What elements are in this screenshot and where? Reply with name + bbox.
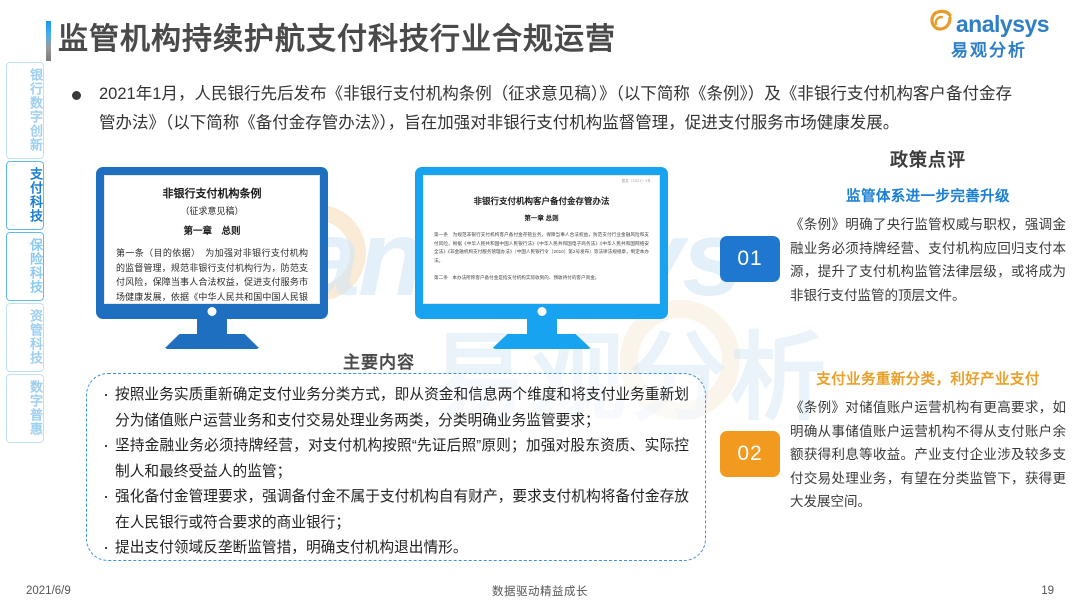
logo-swirl-icon	[929, 9, 955, 39]
doc-left-subtitle: （征求意见稿）	[116, 204, 308, 218]
title-accent-bar	[46, 21, 51, 61]
monitor-left-screen: 非银行支付机构条例 （征求意见稿） 第一章 总则 第一条（目的依据） 为加强对非…	[104, 175, 320, 304]
sidebar-item-asset-tech[interactable]: 资管科技	[6, 303, 44, 372]
monitor-right-screen: 银发〔2021〕1号 非银行支付机构客户备付金存管办法 第一章 总则 第一条 为…	[423, 175, 660, 304]
doc-right-body-2: 第二条 本办法所称客户备付金是指支付机构实际收到的、预收待付的客户资金。	[434, 274, 649, 283]
monitor-left-body: 非银行支付机构条例 （征求意见稿） 第一章 总则 第一条（目的依据） 为加强对非…	[96, 167, 328, 319]
commentary-block-2: 支付业务重新分类，利好产业支付 《条例》对储值账户运营机构有更高要求，如明确从事…	[790, 368, 1066, 514]
badge-02: 02	[720, 431, 780, 477]
monitor-left: 非银行支付机构条例 （征求意见稿） 第一章 总则 第一条（目的依据） 为加强对非…	[96, 167, 328, 349]
monitor-right-neck	[527, 319, 557, 334]
list-item: 按照业务实质重新确定支付业务分类方式，即从资金和信息两个维度和将支付业务重新划分…	[101, 383, 689, 434]
commentary-block-1: 监管体系进一步完善升级 《条例》明确了央行监管权威与职权，强调金融业务必须持牌经…	[790, 185, 1066, 307]
sidebar-item-digital-inclusive[interactable]: 数字普惠	[6, 374, 44, 443]
badge-01: 01	[720, 236, 780, 282]
list-item: 坚持金融业务必须持牌经营，对支付机构按照“先证后照”原则；加强对股东资质、实际控…	[101, 434, 689, 485]
doc-left-body: 第一条（目的依据） 为加强对非银行支付机构的监督管理，规范非银行支付机构行为，防…	[116, 246, 308, 304]
doc-right-title: 非银行支付机构客户备付金存管办法	[434, 195, 649, 208]
doc-right-body: 第一条 为规范非银行支付机构客户备付金存管业务，保障当事人合法权益，防范支付行业…	[434, 231, 649, 265]
lead-paragraph-text: 2021年1月，人民银行先后发布《非银行支付机构条例（征求意见稿）》（以下简称《…	[99, 80, 1012, 138]
slide-root: analysys 易观分析 银行数字创新 支付科技 保险科技 资管科技 数字普惠…	[0, 0, 1080, 608]
lead-paragraph: 2021年1月，人民银行先后发布《非银行支付机构条例（征求意见稿）》（以下简称《…	[72, 80, 1012, 138]
monitor-right: 银发〔2021〕1号 非银行支付机构客户备付金存管办法 第一章 总则 第一条 为…	[415, 167, 668, 349]
monitor-right-body: 银发〔2021〕1号 非银行支付机构客户备付金存管办法 第一章 总则 第一条 为…	[415, 167, 668, 319]
sidebar: 银行数字创新 支付科技 保险科技 资管科技 数字普惠	[6, 62, 44, 443]
commentary-body-1: 《条例》明确了央行监管权威与职权，强调金融业务必须持牌经营、支付机构应回归支付本…	[790, 213, 1066, 307]
doc-right-corner-note: 银发〔2021〕1号	[622, 178, 651, 183]
monitor-right-power-dot-icon	[537, 307, 546, 316]
footer-page-number: 19	[1041, 585, 1054, 597]
doc-left-title: 非银行支付机构条例	[116, 186, 308, 202]
sidebar-item-bank-digital[interactable]: 银行数字创新	[6, 62, 44, 159]
bullet-dot-icon	[72, 91, 81, 100]
commentary-body-2: 《条例》对储值账户运营机构有更高要求，如明确从事储值账户运营机构不得从支付账户余…	[790, 396, 1066, 514]
list-item: 提出支付领域反垄断监管措，明确支付机构退出情形。	[101, 536, 689, 562]
monitor-left-power-dot-icon	[208, 307, 217, 316]
commentary-heading-2: 支付业务重新分类，利好产业支付	[790, 368, 1066, 389]
commentary-heading-1: 监管体系进一步完善升级	[790, 185, 1066, 206]
logo-latin-text: analysys	[956, 13, 1049, 36]
monitor-left-base	[164, 334, 260, 349]
main-content-label: 主要内容	[343, 348, 415, 373]
main-content-list: 按照业务实质重新确定支付业务分类方式，即从资金和信息两个维度和将支付业务重新划分…	[101, 383, 689, 562]
commentary-title: 政策点评	[790, 146, 1066, 172]
logo-cn-text: 易观分析	[926, 40, 1052, 62]
list-item: 强化备付金管理要求，强调备付金不属于支付机构自有财产，要求支付机构将备付金存放在…	[101, 485, 689, 536]
monitor-right-base	[492, 334, 592, 349]
doc-right-chapter: 第一章 总则	[434, 214, 649, 224]
monitor-left-neck	[197, 319, 227, 334]
commentary-column: 政策点评 监管体系进一步完善升级 《条例》明确了央行监管权威与职权，强调金融业务…	[790, 146, 1066, 324]
footer-slogan: 数据驱动精益成长	[0, 583, 1080, 599]
brand-logo: analysys 易观分析	[926, 10, 1052, 64]
sidebar-item-insurance-tech[interactable]: 保险科技	[6, 232, 44, 301]
doc-left-chapter: 第一章 总则	[116, 225, 308, 239]
sidebar-item-payment-tech[interactable]: 支付科技	[6, 161, 44, 230]
main-content-box: 按照业务实质重新确定支付业务分类方式，即从资金和信息两个维度和将支付业务重新划分…	[86, 373, 706, 561]
footer: 2021/6/9 数据驱动精益成长 19	[0, 574, 1080, 608]
page-title: 监管机构持续护航支付科技行业合规运营	[58, 18, 616, 62]
